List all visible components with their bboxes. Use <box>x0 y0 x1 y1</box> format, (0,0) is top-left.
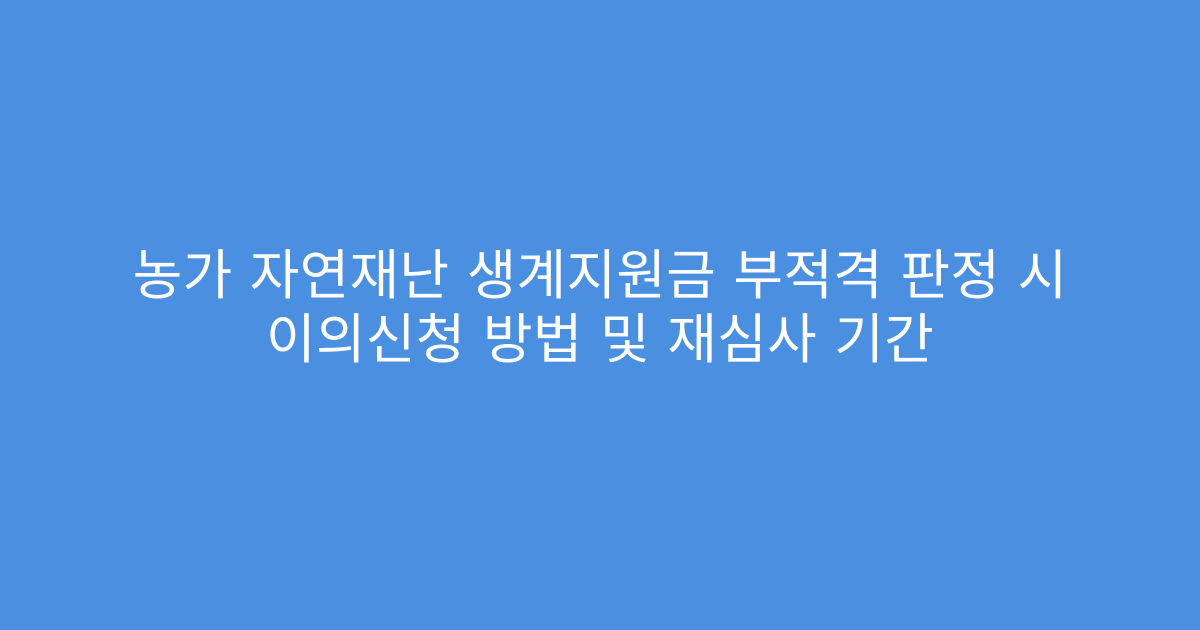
title-line-1: 농가 자연재난 생계지원금 부적격 판정 시 <box>80 244 1120 308</box>
thumbnail-card: 농가 자연재난 생계지원금 부적격 판정 시 이의신청 방법 및 재심사 기간 <box>0 0 1200 630</box>
title-line-2: 이의신청 방법 및 재심사 기간 <box>80 308 1120 372</box>
page-title: 농가 자연재난 생계지원금 부적격 판정 시 이의신청 방법 및 재심사 기간 <box>80 244 1120 372</box>
